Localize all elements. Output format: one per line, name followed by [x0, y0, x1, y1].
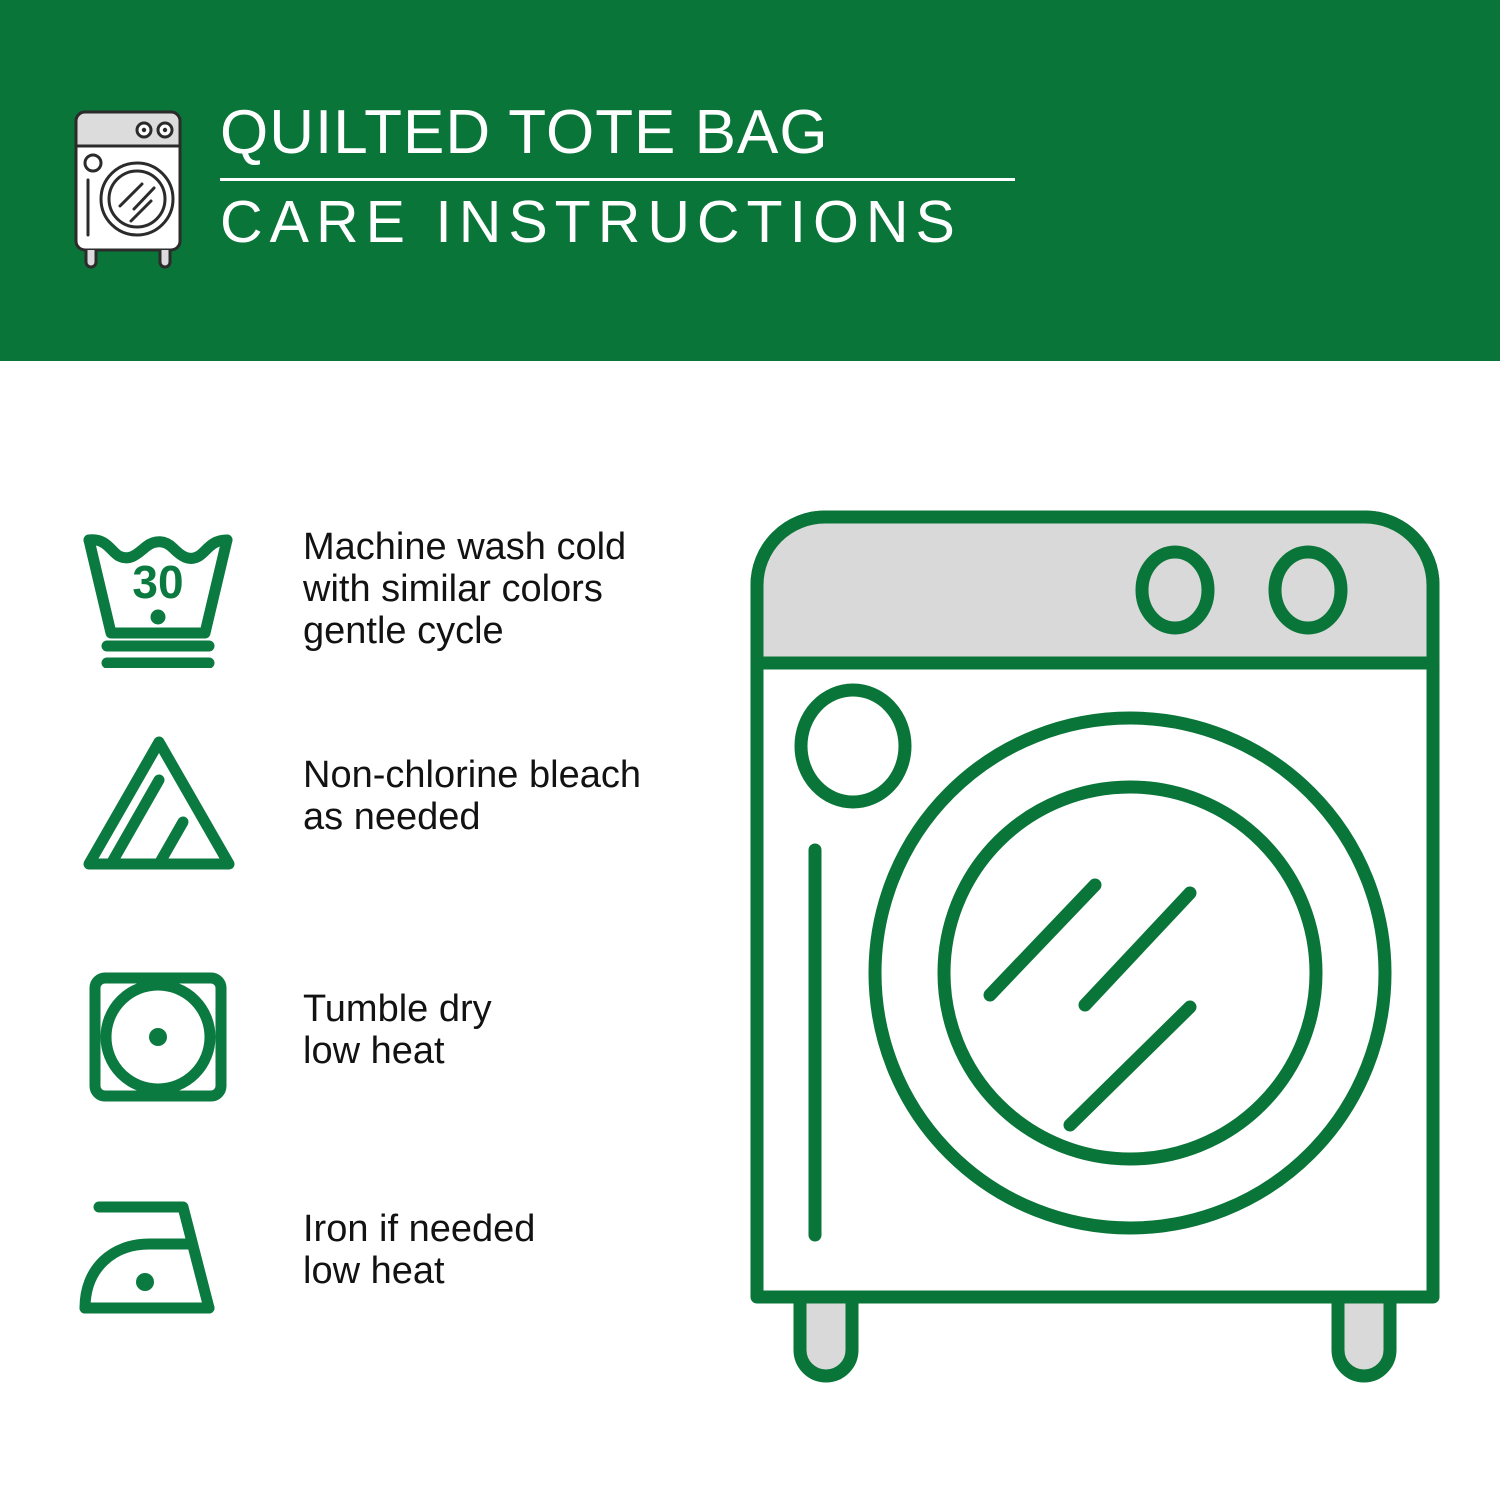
page-subtitle: CARE INSTRUCTIONS: [220, 191, 1038, 253]
care-row: Tumble dry low heat: [70, 962, 730, 1112]
care-label: Non-chlorine bleach as needed: [245, 728, 730, 838]
care-row: Iron if needed low heat: [70, 1182, 730, 1332]
page-title: QUILTED TOTE BAG: [220, 100, 1038, 166]
tumble-dry-low-symbol: [70, 962, 245, 1112]
care-label: Tumble dry low heat: [245, 962, 730, 1072]
machine-wash-30-gentle-symbol: 30: [70, 518, 245, 668]
iron-low-heat-symbol: [70, 1182, 245, 1332]
non-chlorine-bleach-symbol: [70, 728, 245, 878]
header-banner: QUILTED TOTE BAG CARE INSTRUCTIONS: [0, 0, 1500, 361]
washing-machine-icon: [58, 104, 198, 269]
care-label: Iron if needed low heat: [245, 1182, 730, 1292]
header-titles: QUILTED TOTE BAG CARE INSTRUCTIONS: [220, 98, 1038, 253]
header-content: QUILTED TOTE BAG CARE INSTRUCTIONS: [58, 98, 1038, 278]
wash-temperature-value: 30: [132, 556, 183, 608]
care-row: 30 Machine wash cold with similar colors…: [70, 518, 730, 668]
title-divider: [220, 178, 1015, 181]
care-label: Machine wash cold with similar colors ge…: [245, 518, 730, 652]
washing-machine-illustration: [735, 495, 1455, 1425]
care-row: Non-chlorine bleach as needed: [70, 728, 730, 878]
